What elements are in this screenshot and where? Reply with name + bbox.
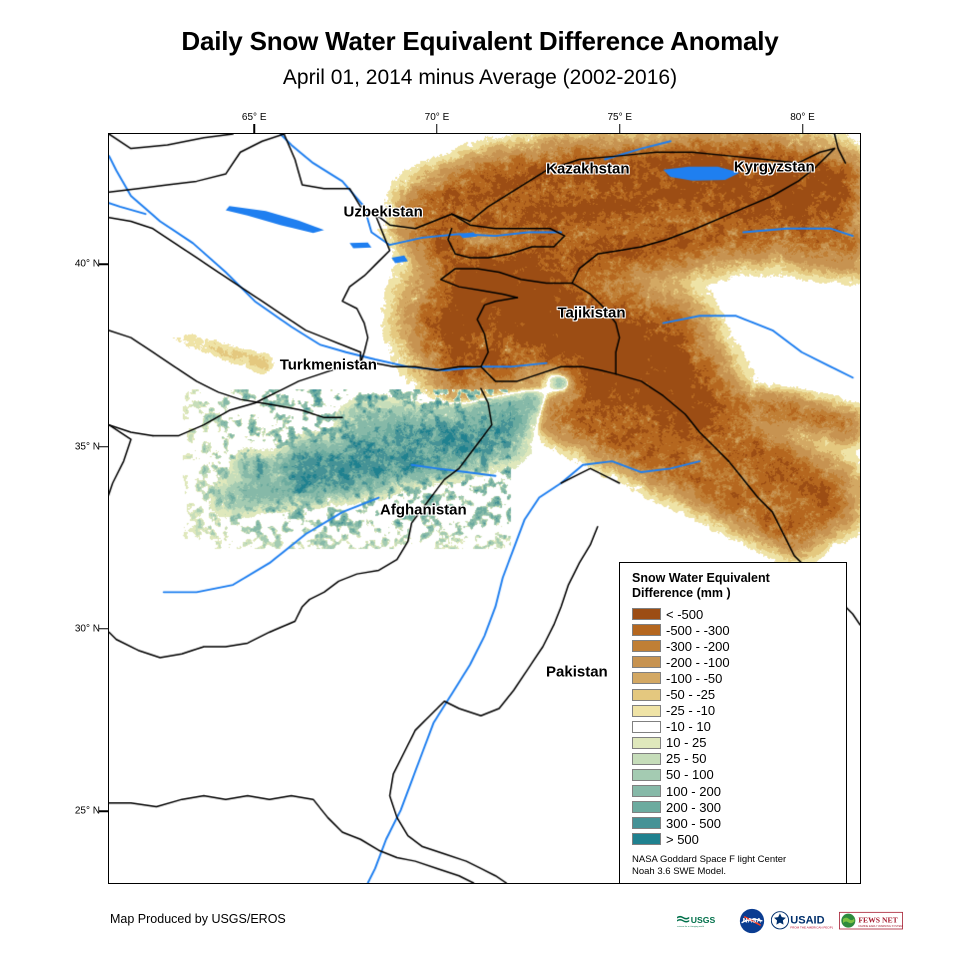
legend-swatch bbox=[632, 689, 661, 701]
legend-label: -300 - -200 bbox=[666, 640, 730, 653]
legend-label: -200 - -100 bbox=[666, 656, 730, 669]
legend-label: 300 - 500 bbox=[666, 817, 721, 830]
legend-label: 50 - 100 bbox=[666, 768, 714, 781]
legend-entry: 25 - 50 bbox=[632, 751, 836, 767]
legend-entry: -200 - -100 bbox=[632, 654, 836, 670]
legend-swatch bbox=[632, 721, 661, 733]
lon-tick-mark bbox=[619, 124, 621, 133]
lat-tick-mark bbox=[99, 263, 108, 265]
nasa-logo: NASA bbox=[739, 908, 765, 934]
legend-entry: 300 - 500 bbox=[632, 815, 836, 831]
legend-entry: -300 - -200 bbox=[632, 638, 836, 654]
legend-swatch bbox=[632, 608, 661, 620]
legend-swatch bbox=[632, 672, 661, 684]
legend-swatch bbox=[632, 817, 661, 829]
lon-tick-label: 80° E bbox=[790, 112, 815, 123]
legend-entry: -100 - -50 bbox=[632, 670, 836, 686]
legend-label: -25 - -10 bbox=[666, 704, 715, 717]
footer-credit: Map Produced by USGS/EROS bbox=[110, 912, 286, 926]
legend-entry: 10 - 25 bbox=[632, 735, 836, 751]
legend-swatch bbox=[632, 833, 661, 845]
legend-entry: 200 - 300 bbox=[632, 799, 836, 815]
map-legend: Snow Water Equivalent Difference (mm ) <… bbox=[619, 562, 847, 884]
lat-tick-mark bbox=[99, 810, 108, 812]
legend-entry: > 500 bbox=[632, 831, 836, 847]
page-title: Daily Snow Water Equivalent Difference A… bbox=[0, 26, 960, 57]
legend-swatch bbox=[632, 801, 661, 813]
lon-tick-mark bbox=[802, 124, 804, 133]
usaid-logo: USAID FROM THE AMERICAN PEOPLE bbox=[771, 908, 833, 934]
fewsnet-logo: FEWS NET FAMINE EARLY WARNING SYSTEMS NE… bbox=[839, 908, 903, 934]
lat-tick-mark bbox=[99, 446, 108, 448]
svg-text:FAMINE EARLY WARNING SYSTEMS N: FAMINE EARLY WARNING SYSTEMS NETWORK bbox=[858, 924, 903, 928]
legend-source-line1: NASA Goddard Space F light Center bbox=[632, 854, 836, 866]
legend-entry: < -500 bbox=[632, 606, 836, 622]
lat-tick-label: 25° N bbox=[75, 806, 100, 817]
legend-source-line2: Noah 3.6 SWE Model. bbox=[632, 866, 836, 878]
lat-tick-mark bbox=[99, 628, 108, 630]
usgs-logo: USGS science for a changing world bbox=[676, 908, 733, 934]
svg-text:FROM THE AMERICAN PEOPLE: FROM THE AMERICAN PEOPLE bbox=[790, 926, 833, 930]
legend-label: 10 - 25 bbox=[666, 736, 706, 749]
lon-tick-mark bbox=[436, 124, 438, 133]
legend-swatch bbox=[632, 656, 661, 668]
legend-label: 200 - 300 bbox=[666, 801, 721, 814]
lat-tick-label: 30° N bbox=[75, 623, 100, 634]
legend-swatch bbox=[632, 705, 661, 717]
legend-swatch bbox=[632, 753, 661, 765]
legend-swatch bbox=[632, 624, 661, 636]
legend-entry-list: < -500-500 - -300-300 - -200-200 - -100-… bbox=[632, 606, 836, 847]
lon-tick-label: 75° E bbox=[607, 112, 632, 123]
lon-tick-mark bbox=[253, 124, 255, 133]
legend-entry: -500 - -300 bbox=[632, 622, 836, 638]
legend-swatch bbox=[632, 785, 661, 797]
legend-entry: 100 - 200 bbox=[632, 783, 836, 799]
legend-swatch bbox=[632, 640, 661, 652]
legend-entry: -25 - -10 bbox=[632, 703, 836, 719]
legend-label: > 500 bbox=[666, 833, 699, 846]
legend-title-line2: Difference (mm ) bbox=[632, 586, 836, 601]
legend-label: < -500 bbox=[666, 608, 703, 621]
legend-entry: 50 - 100 bbox=[632, 767, 836, 783]
legend-label: -100 - -50 bbox=[666, 672, 722, 685]
legend-label: -10 - 10 bbox=[666, 720, 711, 733]
legend-label: 100 - 200 bbox=[666, 785, 721, 798]
svg-text:USGS: USGS bbox=[691, 915, 716, 925]
svg-text:science for a changing world: science for a changing world bbox=[677, 925, 705, 928]
legend-entry: -50 - -25 bbox=[632, 686, 836, 702]
legend-title-line1: Snow Water Equivalent bbox=[632, 571, 836, 586]
legend-label: -50 - -25 bbox=[666, 688, 715, 701]
agency-logo-strip: USGS science for a changing world NASA U… bbox=[676, 906, 903, 936]
svg-text:FEWS NET: FEWS NET bbox=[858, 915, 897, 924]
legend-label: -500 - -300 bbox=[666, 624, 730, 637]
lat-tick-label: 40° N bbox=[75, 259, 100, 270]
lon-tick-label: 65° E bbox=[242, 112, 267, 123]
legend-entry: -10 - 10 bbox=[632, 719, 836, 735]
legend-source-note: NASA Goddard Space F light Center Noah 3… bbox=[632, 854, 836, 878]
legend-title: Snow Water Equivalent Difference (mm ) bbox=[632, 571, 836, 601]
legend-swatch bbox=[632, 737, 661, 749]
legend-label: 25 - 50 bbox=[666, 752, 706, 765]
lon-tick-label: 70° E bbox=[425, 112, 450, 123]
lat-tick-label: 35° N bbox=[75, 441, 100, 452]
svg-text:NASA: NASA bbox=[743, 918, 762, 925]
legend-swatch bbox=[632, 769, 661, 781]
page-subtitle: April 01, 2014 minus Average (2002-2016) bbox=[0, 66, 960, 90]
